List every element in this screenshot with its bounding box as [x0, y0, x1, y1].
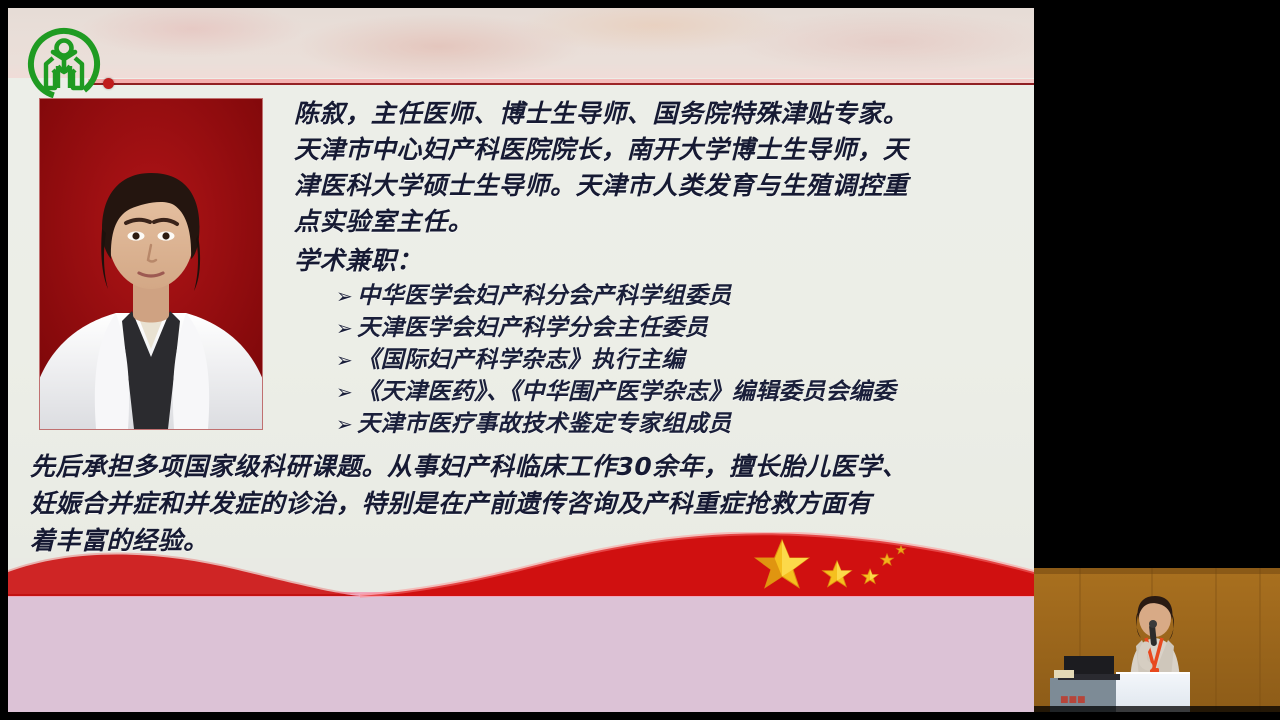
bio-text-column: 陈叙，主任医师、博士生导师、国务院特殊津贴专家。 天津市中心妇产科医院院长，南开…	[294, 96, 1024, 440]
list-item-label: 《国际妇产科学杂志》执行主编	[357, 344, 685, 376]
list-item-label: 《天津医药》、《中华围产医学杂志》编辑委员会编委	[357, 376, 896, 408]
speaker-portrait-photo	[39, 98, 263, 430]
list-item: ➢ 《国际妇产科学杂志》执行主编	[336, 344, 1024, 376]
arrow-bullet-icon: ➢	[336, 376, 353, 408]
experience-line-2: 妊娠合并症和并发症的诊治，特别是在产前遗传咨询及产科重症抢救方面有	[30, 485, 1030, 522]
list-item-label: 天津市医疗事故技术鉴定专家组成员	[357, 408, 731, 440]
bio-line-1: 陈叙，主任医师、博士生导师、国务院特殊津贴专家。	[294, 96, 1024, 132]
bio-line-2: 天津市中心妇产科医院院长，南开大学博士生导师，天	[294, 132, 1024, 168]
frame-edge-left	[0, 0, 8, 720]
frame-edge-bottom	[0, 712, 1034, 720]
screen-root: 陈叙，主任医师、博士生导师、国务院特殊津贴专家。 天津市中心妇产科医院院长，南开…	[0, 0, 1280, 720]
arrow-bullet-icon: ➢	[336, 344, 353, 376]
bio-line-3: 津医科大学硕士生导师。天津市人类发育与生殖调控重	[294, 168, 1024, 204]
arrow-bullet-icon: ➢	[336, 408, 353, 440]
list-item: ➢ 天津医学会妇产科学分会主任委员	[336, 312, 1024, 344]
list-item: ➢ 中华医学会妇产科分会产科学组委员	[336, 280, 1024, 312]
header-rule	[88, 83, 1034, 85]
experience-line-1: 先后承担多项国家级科研课题。从事妇产科临床工作30余年，擅长胎儿医学、	[30, 448, 1030, 485]
bio-line-4: 点实验室主任。	[294, 204, 1024, 240]
list-item-label: 天津医学会妇产科学分会主任委员	[357, 312, 708, 344]
video-sidebar: ■■■	[1034, 0, 1280, 720]
presentation-slide: 陈叙，主任医师、博士生导师、国务院特殊津贴专家。 天津市中心妇产科医院院长，南开…	[8, 8, 1034, 712]
svg-text:■■■: ■■■	[1060, 695, 1086, 705]
speaker-video-feed[interactable]: ■■■	[1034, 568, 1280, 712]
arrow-bullet-icon: ➢	[336, 280, 353, 312]
frame-edge-top	[0, 0, 1034, 8]
arrow-bullet-icon: ➢	[336, 312, 353, 344]
slide-header-band	[8, 8, 1034, 78]
list-item: ➢ 天津市医疗事故技术鉴定专家组成员	[336, 408, 1024, 440]
list-item-label: 中华医学会妇产科分会产科学组委员	[357, 280, 731, 312]
academic-roles-list: ➢ 中华医学会妇产科分会产科学组委员 ➢ 天津医学会妇产科学分会主任委员 ➢ 《…	[294, 280, 1024, 440]
academic-roles-heading: 学术兼职：	[294, 242, 1024, 280]
list-item: ➢ 《天津医药》、《中华围产医学杂志》编辑委员会编委	[336, 376, 1024, 408]
slide-footer-decoration	[8, 532, 1034, 712]
organization-logo-icon	[22, 22, 106, 106]
